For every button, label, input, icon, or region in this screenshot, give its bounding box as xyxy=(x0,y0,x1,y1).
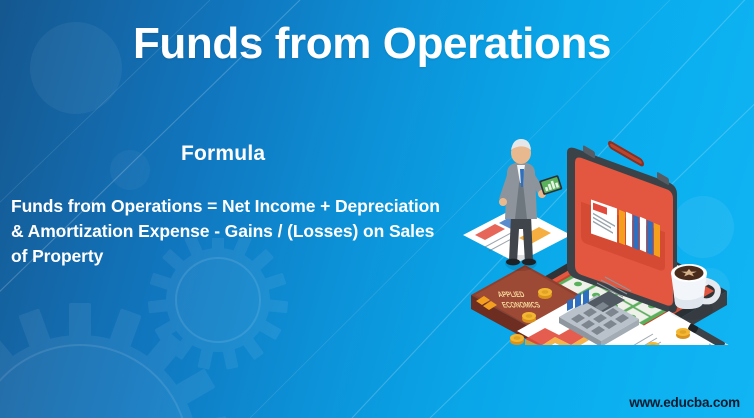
book-title-line1: APPLIED xyxy=(496,290,527,300)
book-title-line2: ECONOMICS xyxy=(500,300,541,310)
finance-illustration: APPLIED ECONOMICS xyxy=(455,95,754,345)
formula-text: Funds from Operations = Net Income + Dep… xyxy=(11,194,441,269)
funds-from-operations-banner: APPLIED ECONOMICS xyxy=(0,0,754,418)
formula-label: Formula xyxy=(181,142,265,166)
page-title: Funds from Operations xyxy=(0,17,754,71)
site-watermark: www.educba.com xyxy=(629,395,740,410)
